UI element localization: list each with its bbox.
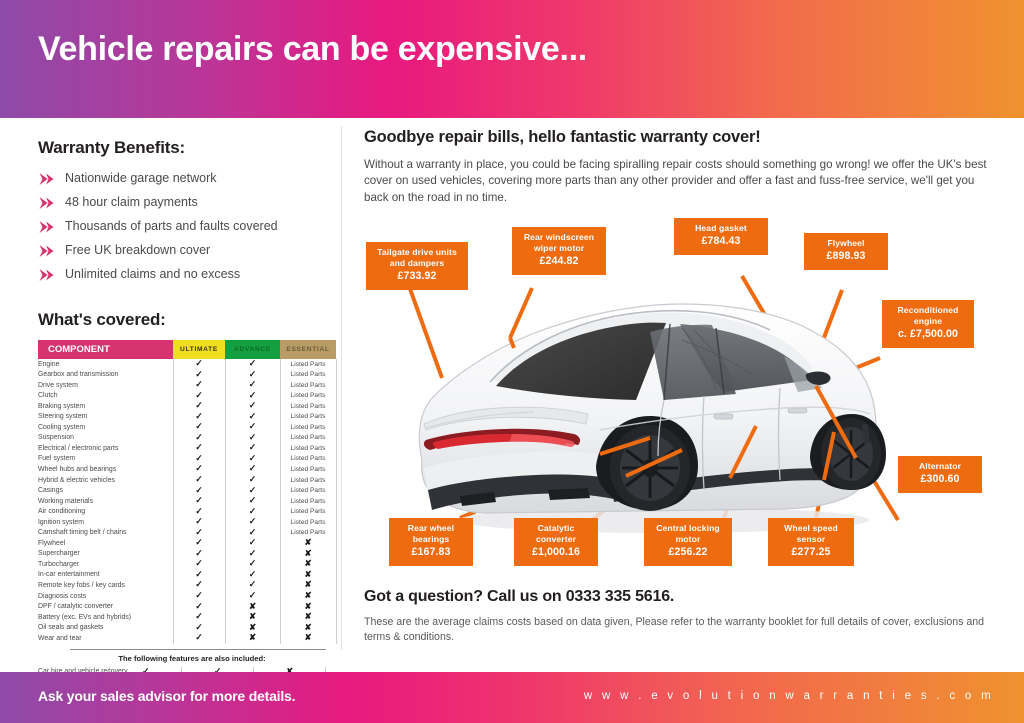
mark-cross-icon: ✘ bbox=[304, 601, 311, 611]
mark-check-icon: ✓ bbox=[195, 537, 203, 547]
component-name: Drive system bbox=[38, 380, 173, 391]
column-header-essential: ESSENTIAL bbox=[280, 340, 336, 359]
callout-reconditioned-engine: Reconditioned engine c. £7,500.00 bbox=[882, 300, 974, 348]
component-name: Fuel system bbox=[38, 454, 173, 465]
mark-cross-icon: ✘ bbox=[304, 611, 311, 621]
component-name: Ignition system bbox=[38, 517, 173, 528]
mark-check-icon: ✓ bbox=[249, 474, 257, 484]
mark-cross-icon: ✘ bbox=[304, 558, 311, 568]
mark-check-icon: ✓ bbox=[195, 569, 203, 579]
mark-check-icon: ✓ bbox=[195, 463, 203, 473]
callout-label: Rear windscreen wiper motor bbox=[524, 232, 594, 253]
mark-check-icon: ✓ bbox=[249, 400, 257, 410]
table-row: Turbocharger✓✓✘ bbox=[38, 559, 336, 570]
whats-covered-heading: What's covered: bbox=[38, 310, 326, 330]
mark-check-icon: ✓ bbox=[249, 390, 257, 400]
mark-listed-icon: Listed Parts bbox=[291, 403, 326, 410]
component-name: Air conditioning bbox=[38, 507, 173, 518]
callout-rear-wheel-bearings: Rear wheel bearings £167.83 bbox=[389, 518, 473, 566]
component-name: Cooling system bbox=[38, 422, 173, 433]
coverage-cell-cross: ✘ bbox=[225, 633, 280, 644]
mark-check-icon: ✓ bbox=[195, 632, 203, 642]
component-name: Turbocharger bbox=[38, 559, 173, 570]
coverage-cell-listed: Listed Parts bbox=[280, 517, 336, 528]
mark-cross-icon: ✘ bbox=[304, 548, 311, 558]
component-name: Casings bbox=[38, 486, 173, 497]
disclaimer-text: These are the average claims costs based… bbox=[364, 615, 996, 646]
mark-check-icon: ✓ bbox=[195, 485, 203, 495]
mark-check-icon: ✓ bbox=[195, 400, 203, 410]
intro-paragraph: Without a warranty in place, you could b… bbox=[364, 157, 992, 206]
coverage-cell-cross: ✘ bbox=[280, 633, 336, 644]
component-name: Gearbox and transmission bbox=[38, 370, 173, 381]
benefit-item: Unlimited claims and no excess bbox=[38, 266, 326, 284]
component-name: Clutch bbox=[38, 391, 173, 402]
coverage-cell-listed: Listed Parts bbox=[280, 454, 336, 465]
column-header-advance: ADVANCE bbox=[225, 340, 280, 359]
arrow-right-icon bbox=[38, 268, 56, 282]
mark-check-icon: ✓ bbox=[249, 495, 257, 505]
component-name: Engine bbox=[38, 359, 173, 370]
coverage-table-head: Component ULTIMATE ADVANCE ESSENTIAL bbox=[38, 340, 336, 359]
goodbye-heading: Goodbye repair bills, hello fantastic wa… bbox=[364, 128, 996, 147]
mark-check-icon: ✓ bbox=[195, 579, 203, 589]
callout-rear-windscreen-wiper: Rear windscreen wiper motor £244.82 bbox=[512, 227, 606, 275]
coverage-cell-check: ✓ bbox=[173, 633, 225, 644]
arrow-right-icon bbox=[38, 196, 56, 210]
benefit-item: Thousands of parts and faults covered bbox=[38, 218, 326, 236]
mark-check-icon: ✓ bbox=[249, 432, 257, 442]
component-name: Braking system bbox=[38, 401, 173, 412]
coverage-cell-listed: Listed Parts bbox=[280, 464, 336, 475]
component-name: Suspension bbox=[38, 433, 173, 444]
car-body bbox=[419, 304, 886, 533]
mark-check-icon: ✓ bbox=[195, 558, 203, 568]
mark-listed-icon: Listed Parts bbox=[291, 529, 326, 536]
mark-check-icon: ✓ bbox=[195, 390, 203, 400]
callout-head-gasket: Head gasket £784.43 bbox=[674, 218, 768, 255]
callout-price: £898.93 bbox=[811, 250, 881, 264]
component-name: Camshaft timing belt / chains bbox=[38, 528, 173, 539]
table-row: Drive system✓✓Listed Parts bbox=[38, 380, 336, 391]
coverage-cell-listed: Listed Parts bbox=[280, 401, 336, 412]
table-row: Wear and tear✓✘✘ bbox=[38, 633, 336, 644]
mark-listed-icon: Listed Parts bbox=[291, 498, 326, 505]
benefit-label: Unlimited claims and no excess bbox=[65, 268, 240, 282]
table-row: Engine✓✓Listed Parts bbox=[38, 359, 336, 370]
contact-heading: Got a question? Call us on 0333 335 5616… bbox=[364, 588, 996, 606]
mark-check-icon: ✓ bbox=[195, 432, 203, 442]
table-row: Diagnosis costs✓✓✘ bbox=[38, 591, 336, 602]
callout-label: Head gasket bbox=[695, 223, 747, 233]
vehicle-diagram: Tailgate drive units and dampers £733.92… bbox=[364, 228, 1004, 568]
callout-flywheel: Flywheel £898.93 bbox=[804, 233, 888, 270]
mark-check-icon: ✓ bbox=[249, 379, 257, 389]
mark-check-icon: ✓ bbox=[249, 537, 257, 547]
mark-cross-icon: ✘ bbox=[249, 622, 256, 632]
coverage-cell-listed: Listed Parts bbox=[280, 422, 336, 433]
callout-price: £784.43 bbox=[681, 235, 761, 249]
mark-check-icon: ✓ bbox=[195, 611, 203, 621]
mark-cross-icon: ✘ bbox=[249, 611, 256, 621]
coverage-table: Component ULTIMATE ADVANCE ESSENTIAL Eng… bbox=[38, 340, 337, 644]
mark-check-icon: ✓ bbox=[195, 369, 203, 379]
mark-cross-icon: ✘ bbox=[249, 601, 256, 611]
mark-check-icon: ✓ bbox=[195, 379, 203, 389]
coverage-cell-listed: Listed Parts bbox=[280, 412, 336, 423]
benefit-item: Nationwide garage network bbox=[38, 170, 326, 188]
mark-check-icon: ✓ bbox=[195, 516, 203, 526]
page-title: Vehicle repairs can be expensive... bbox=[38, 30, 587, 69]
coverage-cell-listed: Listed Parts bbox=[280, 507, 336, 518]
table-row: Fuel system✓✓Listed Parts bbox=[38, 454, 336, 465]
table-row: Hybrid & electric vehicles✓✓Listed Parts bbox=[38, 475, 336, 486]
callout-price: £733.92 bbox=[373, 270, 461, 284]
table-row: Electrical / electronic parts✓✓Listed Pa… bbox=[38, 443, 336, 454]
benefit-label: Free UK breakdown cover bbox=[65, 244, 210, 258]
mark-check-icon: ✓ bbox=[195, 622, 203, 632]
mark-listed-icon: Listed Parts bbox=[291, 434, 326, 441]
mark-listed-icon: Listed Parts bbox=[291, 477, 326, 484]
mark-listed-icon: Listed Parts bbox=[291, 382, 326, 389]
mark-check-icon: ✓ bbox=[249, 421, 257, 431]
mark-check-icon: ✓ bbox=[195, 411, 203, 421]
table-row: Battery (exc. EVs and hybrids)✓✘✘ bbox=[38, 612, 336, 623]
mark-check-icon: ✓ bbox=[249, 442, 257, 452]
callout-label: Flywheel bbox=[827, 238, 864, 248]
callout-price: £277.25 bbox=[775, 546, 847, 560]
mark-check-icon: ✓ bbox=[249, 590, 257, 600]
mark-check-icon: ✓ bbox=[249, 463, 257, 473]
arrow-right-icon bbox=[38, 244, 56, 258]
mark-check-icon: ✓ bbox=[249, 411, 257, 421]
mark-check-icon: ✓ bbox=[249, 569, 257, 579]
table-row: Suspension✓✓Listed Parts bbox=[38, 433, 336, 444]
mark-listed-icon: Listed Parts bbox=[291, 413, 326, 420]
component-name: Steering system bbox=[38, 412, 173, 423]
benefit-label: 48 hour claim payments bbox=[65, 196, 198, 210]
mark-check-icon: ✓ bbox=[195, 358, 203, 368]
callout-price: £256.22 bbox=[651, 546, 725, 560]
mark-check-icon: ✓ bbox=[195, 421, 203, 431]
table-row: Braking system✓✓Listed Parts bbox=[38, 401, 336, 412]
component-name: Wear and tear bbox=[38, 633, 173, 644]
warranty-flyer-page: Vehicle repairs can be expensive... Warr… bbox=[0, 0, 1024, 723]
callout-label: Rear wheel bearings bbox=[408, 523, 454, 544]
table-row: Wheel hubs and bearings✓✓Listed Parts bbox=[38, 464, 336, 475]
callout-price: £300.60 bbox=[905, 473, 975, 487]
callout-label: Alternator bbox=[919, 461, 961, 471]
table-row: Steering system✓✓Listed Parts bbox=[38, 412, 336, 423]
table-row: DPF / catalytic converter✓✘✘ bbox=[38, 602, 336, 613]
mark-check-icon: ✓ bbox=[195, 506, 203, 516]
table-row: Flywheel✓✓✘ bbox=[38, 538, 336, 549]
column-divider bbox=[341, 126, 342, 650]
callout-label: Tailgate drive units and dampers bbox=[377, 247, 457, 268]
callout-wheel-speed-sensor: Wheel speed sensor £277.25 bbox=[768, 518, 854, 566]
component-name: Supercharger bbox=[38, 549, 173, 560]
mark-listed-icon: Listed Parts bbox=[291, 371, 326, 378]
mark-cross-icon: ✘ bbox=[304, 590, 311, 600]
coverage-table-body: Engine✓✓Listed PartsGearbox and transmis… bbox=[38, 359, 336, 644]
mark-listed-icon: Listed Parts bbox=[291, 487, 326, 494]
table-row: Camshaft timing belt / chains✓✓Listed Pa… bbox=[38, 528, 336, 539]
mark-check-icon: ✓ bbox=[249, 485, 257, 495]
component-name: Oil seals and gaskets bbox=[38, 623, 173, 634]
benefit-item: 48 hour claim payments bbox=[38, 194, 326, 212]
component-name: DPF / catalytic converter bbox=[38, 602, 173, 613]
mark-cross-icon: ✘ bbox=[304, 537, 311, 547]
table-row: Clutch✓✓Listed Parts bbox=[38, 391, 336, 402]
component-name: Wheel hubs and bearings bbox=[38, 464, 173, 475]
component-name: Flywheel bbox=[38, 538, 173, 549]
mark-listed-icon: Listed Parts bbox=[291, 361, 326, 368]
mark-cross-icon: ✘ bbox=[304, 579, 311, 589]
mark-check-icon: ✓ bbox=[195, 548, 203, 558]
component-name: Electrical / electronic parts bbox=[38, 443, 173, 454]
also-included-heading: The following features are also included… bbox=[38, 654, 326, 663]
coverage-table-header-row: Component ULTIMATE ADVANCE ESSENTIAL bbox=[38, 340, 336, 359]
coverage-cell-listed: Listed Parts bbox=[280, 443, 336, 454]
benefit-label: Nationwide garage network bbox=[65, 172, 216, 186]
mark-listed-icon: Listed Parts bbox=[291, 424, 326, 431]
mark-listed-icon: Listed Parts bbox=[291, 445, 326, 452]
coverage-cell-listed: Listed Parts bbox=[280, 391, 336, 402]
mark-check-icon: ✓ bbox=[195, 442, 203, 452]
callout-label: Reconditioned engine bbox=[898, 305, 959, 326]
table-row: Casings✓✓Listed Parts bbox=[38, 486, 336, 497]
component-name: Diagnosis costs bbox=[38, 591, 173, 602]
footer-cta-text: Ask your sales advisor for more details. bbox=[38, 688, 295, 704]
component-name: In-car entertainment bbox=[38, 570, 173, 581]
coverage-cell-listed: Listed Parts bbox=[280, 496, 336, 507]
page-footer: Ask your sales advisor for more details.… bbox=[0, 672, 1024, 723]
component-name: Hybrid & electric vehicles bbox=[38, 475, 173, 486]
coverage-cell-listed: Listed Parts bbox=[280, 380, 336, 391]
mark-check-icon: ✓ bbox=[249, 453, 257, 463]
table-row: In-car entertainment✓✓✘ bbox=[38, 570, 336, 581]
arrow-right-icon bbox=[38, 172, 56, 186]
coverage-cell-listed: Listed Parts bbox=[280, 370, 336, 381]
mark-check-icon: ✓ bbox=[195, 495, 203, 505]
table-row: Supercharger✓✓✘ bbox=[38, 549, 336, 560]
mark-cross-icon: ✘ bbox=[304, 622, 311, 632]
mark-check-icon: ✓ bbox=[249, 548, 257, 558]
table-row: Working materials✓✓Listed Parts bbox=[38, 496, 336, 507]
coverage-cell-listed: Listed Parts bbox=[280, 475, 336, 486]
table-row: Ignition system✓✓Listed Parts bbox=[38, 517, 336, 528]
mark-check-icon: ✓ bbox=[249, 558, 257, 568]
component-name: Remote key fobs / key cards bbox=[38, 580, 173, 591]
mark-check-icon: ✓ bbox=[195, 590, 203, 600]
component-name: Battery (exc. EVs and hybrids) bbox=[38, 612, 173, 623]
left-column: Warranty Benefits: Nationwide garage net… bbox=[38, 138, 326, 709]
mark-listed-icon: Listed Parts bbox=[291, 519, 326, 526]
warranty-benefits-heading: Warranty Benefits: bbox=[38, 138, 326, 158]
mark-listed-icon: Listed Parts bbox=[291, 392, 326, 399]
table-row: Oil seals and gaskets✓✘✘ bbox=[38, 623, 336, 634]
callout-label: Catalytic converter bbox=[536, 523, 576, 544]
right-column: Goodbye repair bills, hello fantastic wa… bbox=[364, 128, 996, 206]
callout-label: Central locking motor bbox=[656, 523, 720, 544]
mark-check-icon: ✓ bbox=[249, 527, 257, 537]
mark-check-icon: ✓ bbox=[249, 579, 257, 589]
mark-cross-icon: ✘ bbox=[249, 632, 256, 642]
callout-catalytic-converter: Catalytic converter £1,000.16 bbox=[514, 518, 598, 566]
component-name: Working materials bbox=[38, 496, 173, 507]
mark-check-icon: ✓ bbox=[249, 369, 257, 379]
arrow-right-icon bbox=[38, 220, 56, 234]
page-header: Vehicle repairs can be expensive... bbox=[0, 0, 1024, 118]
mark-cross-icon: ✘ bbox=[304, 632, 311, 642]
warranty-benefits-list: Nationwide garage network48 hour claim p… bbox=[38, 170, 326, 284]
table-divider bbox=[70, 649, 326, 650]
callout-price: £1,000.16 bbox=[521, 546, 591, 560]
callout-price: £244.82 bbox=[519, 255, 599, 269]
table-row: Remote key fobs / key cards✓✓✘ bbox=[38, 580, 336, 591]
column-header-component: Component bbox=[38, 340, 173, 359]
callout-price: c. £7,500.00 bbox=[889, 328, 967, 342]
coverage-cell-listed: Listed Parts bbox=[280, 359, 336, 370]
coverage-cell-listed: Listed Parts bbox=[280, 486, 336, 497]
callout-label: Wheel speed sensor bbox=[784, 523, 838, 544]
mark-check-icon: ✓ bbox=[195, 453, 203, 463]
callout-price: £167.83 bbox=[396, 546, 466, 560]
contact-section: Got a question? Call us on 0333 335 5616… bbox=[364, 588, 996, 646]
callout-tailgate-drive-units: Tailgate drive units and dampers £733.92 bbox=[366, 242, 468, 290]
mark-check-icon: ✓ bbox=[249, 358, 257, 368]
callout-alternator: Alternator £300.60 bbox=[898, 456, 982, 493]
coverage-cell-listed: Listed Parts bbox=[280, 433, 336, 444]
mark-cross-icon: ✘ bbox=[304, 569, 311, 579]
mark-check-icon: ✓ bbox=[249, 516, 257, 526]
callout-central-locking-motor: Central locking motor £256.22 bbox=[644, 518, 732, 566]
benefit-label: Thousands of parts and faults covered bbox=[65, 220, 278, 234]
mark-listed-icon: Listed Parts bbox=[291, 508, 326, 515]
table-row: Air conditioning✓✓Listed Parts bbox=[38, 507, 336, 518]
table-row: Cooling system✓✓Listed Parts bbox=[38, 422, 336, 433]
footer-website-url[interactable]: w w w . e v o l u t i o n w a r r a n t … bbox=[584, 690, 994, 702]
mark-check-icon: ✓ bbox=[249, 506, 257, 516]
table-row: Gearbox and transmission✓✓Listed Parts bbox=[38, 370, 336, 381]
mark-check-icon: ✓ bbox=[195, 474, 203, 484]
mark-listed-icon: Listed Parts bbox=[291, 455, 326, 462]
mark-check-icon: ✓ bbox=[195, 601, 203, 611]
mark-check-icon: ✓ bbox=[195, 527, 203, 537]
benefit-item: Free UK breakdown cover bbox=[38, 242, 326, 260]
mark-listed-icon: Listed Parts bbox=[291, 466, 326, 473]
column-header-ultimate: ULTIMATE bbox=[173, 340, 225, 359]
